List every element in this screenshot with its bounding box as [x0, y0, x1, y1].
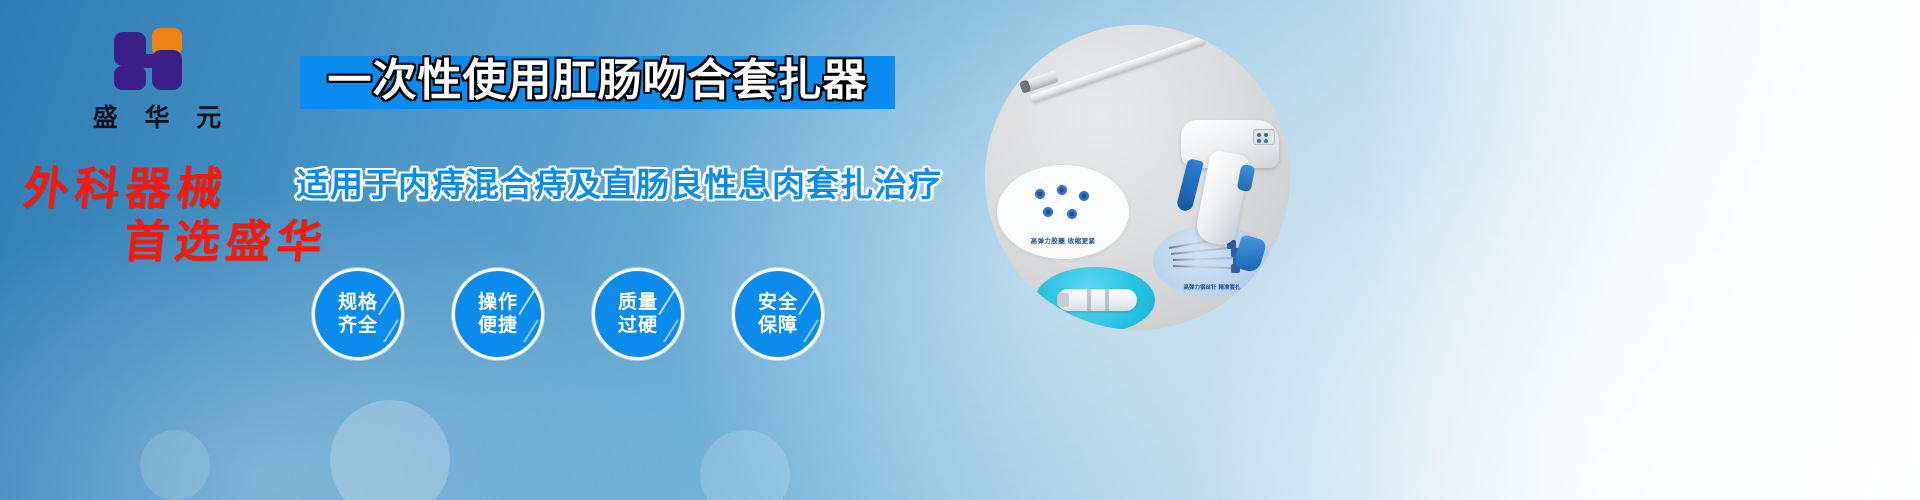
tube-tip-icon [1057, 293, 1069, 307]
rubber-band-icon [1043, 207, 1053, 217]
needle-icon [1171, 247, 1233, 255]
panel-dot-icon [1257, 133, 1261, 137]
rubber-band-icon [1035, 189, 1045, 199]
feature-badge-0[interactable]: 规格 齐全 [312, 268, 404, 360]
feature-badge-2[interactable]: 质量 过硬 [592, 268, 684, 360]
page-title: 一次性使用肛肠吻合套扎器 [300, 50, 895, 112]
needle-icon [1173, 257, 1235, 261]
slash-decor-icon [378, 289, 396, 316]
feature-badge-1[interactable]: 操作 便捷 [452, 268, 544, 360]
slash-decor-icon [798, 289, 816, 316]
feature-badge-line2: 保障 [758, 314, 798, 337]
rubber-band-icon [1067, 209, 1077, 219]
decorative-bubble [330, 400, 450, 500]
applicator-barrel [1030, 35, 1207, 103]
decorative-bubble [700, 430, 790, 500]
needles-caption: 高弹力钢丝针 精准套扎 [1153, 283, 1271, 291]
feature-badge-line2: 齐全 [338, 314, 378, 337]
applicator-control-panel [1253, 129, 1275, 145]
rubber-band-icon [1079, 191, 1089, 201]
shenghuayuan-blocks-logo-icon [114, 28, 200, 90]
promo-banner: 盛 华 元 外科器械 首选盛华 一次性使用肛肠吻合套扎器 适用于内痔混合痔及直肠… [0, 0, 1920, 500]
background-right-fade [1360, 0, 1920, 500]
slash-decor-icon [523, 319, 538, 342]
slash-decor-icon [663, 319, 678, 342]
feature-badge-list: 规格 齐全 操作 便捷 质量 过硬 安全 保障 [312, 268, 824, 360]
tube-icon [1057, 289, 1137, 311]
brand-logo[interactable]: 盛 华 元 [62, 28, 252, 128]
rubber-bands-caption: 高弹力胶圈 收缩更紧 [997, 235, 1129, 245]
feature-badge-line2: 过硬 [618, 314, 658, 337]
tube-ring-icon [1087, 289, 1091, 311]
feature-badge-line2: 便捷 [478, 314, 518, 337]
subtitle: 适用于内痔混合痔及直肠良性息肉套扎治疗 [296, 158, 896, 206]
slogan-line-2: 首选盛华 [121, 205, 332, 270]
tube-inset [1035, 267, 1155, 330]
rubber-band-icon [1057, 185, 1067, 195]
slash-decor-icon [518, 289, 536, 316]
product-photo: 高弹力胶圈 收缩更紧 高弹力钢丝针 精准套扎 [985, 25, 1290, 330]
panel-dot-icon [1257, 139, 1261, 143]
needle-icon [1173, 265, 1233, 269]
feature-badge-line1: 操作 [478, 291, 518, 314]
feature-badge-line1: 规格 [338, 291, 378, 314]
panel-dot-icon [1264, 133, 1268, 137]
slash-decor-icon [383, 319, 398, 342]
background-glow-right [1180, 120, 1920, 500]
feature-badge-line1: 质量 [618, 291, 658, 314]
panel-dot-icon [1264, 139, 1268, 143]
feature-badge-line1: 安全 [758, 291, 798, 314]
slash-decor-icon [803, 319, 818, 342]
decorative-bubble [140, 430, 210, 500]
rubber-bands-inset: 高弹力胶圈 收缩更紧 [997, 165, 1129, 259]
feature-badge-3[interactable]: 安全 保障 [732, 268, 824, 360]
brand-name: 盛 华 元 [62, 98, 252, 134]
slash-decor-icon [658, 289, 676, 316]
tube-ring-icon [1105, 289, 1109, 311]
